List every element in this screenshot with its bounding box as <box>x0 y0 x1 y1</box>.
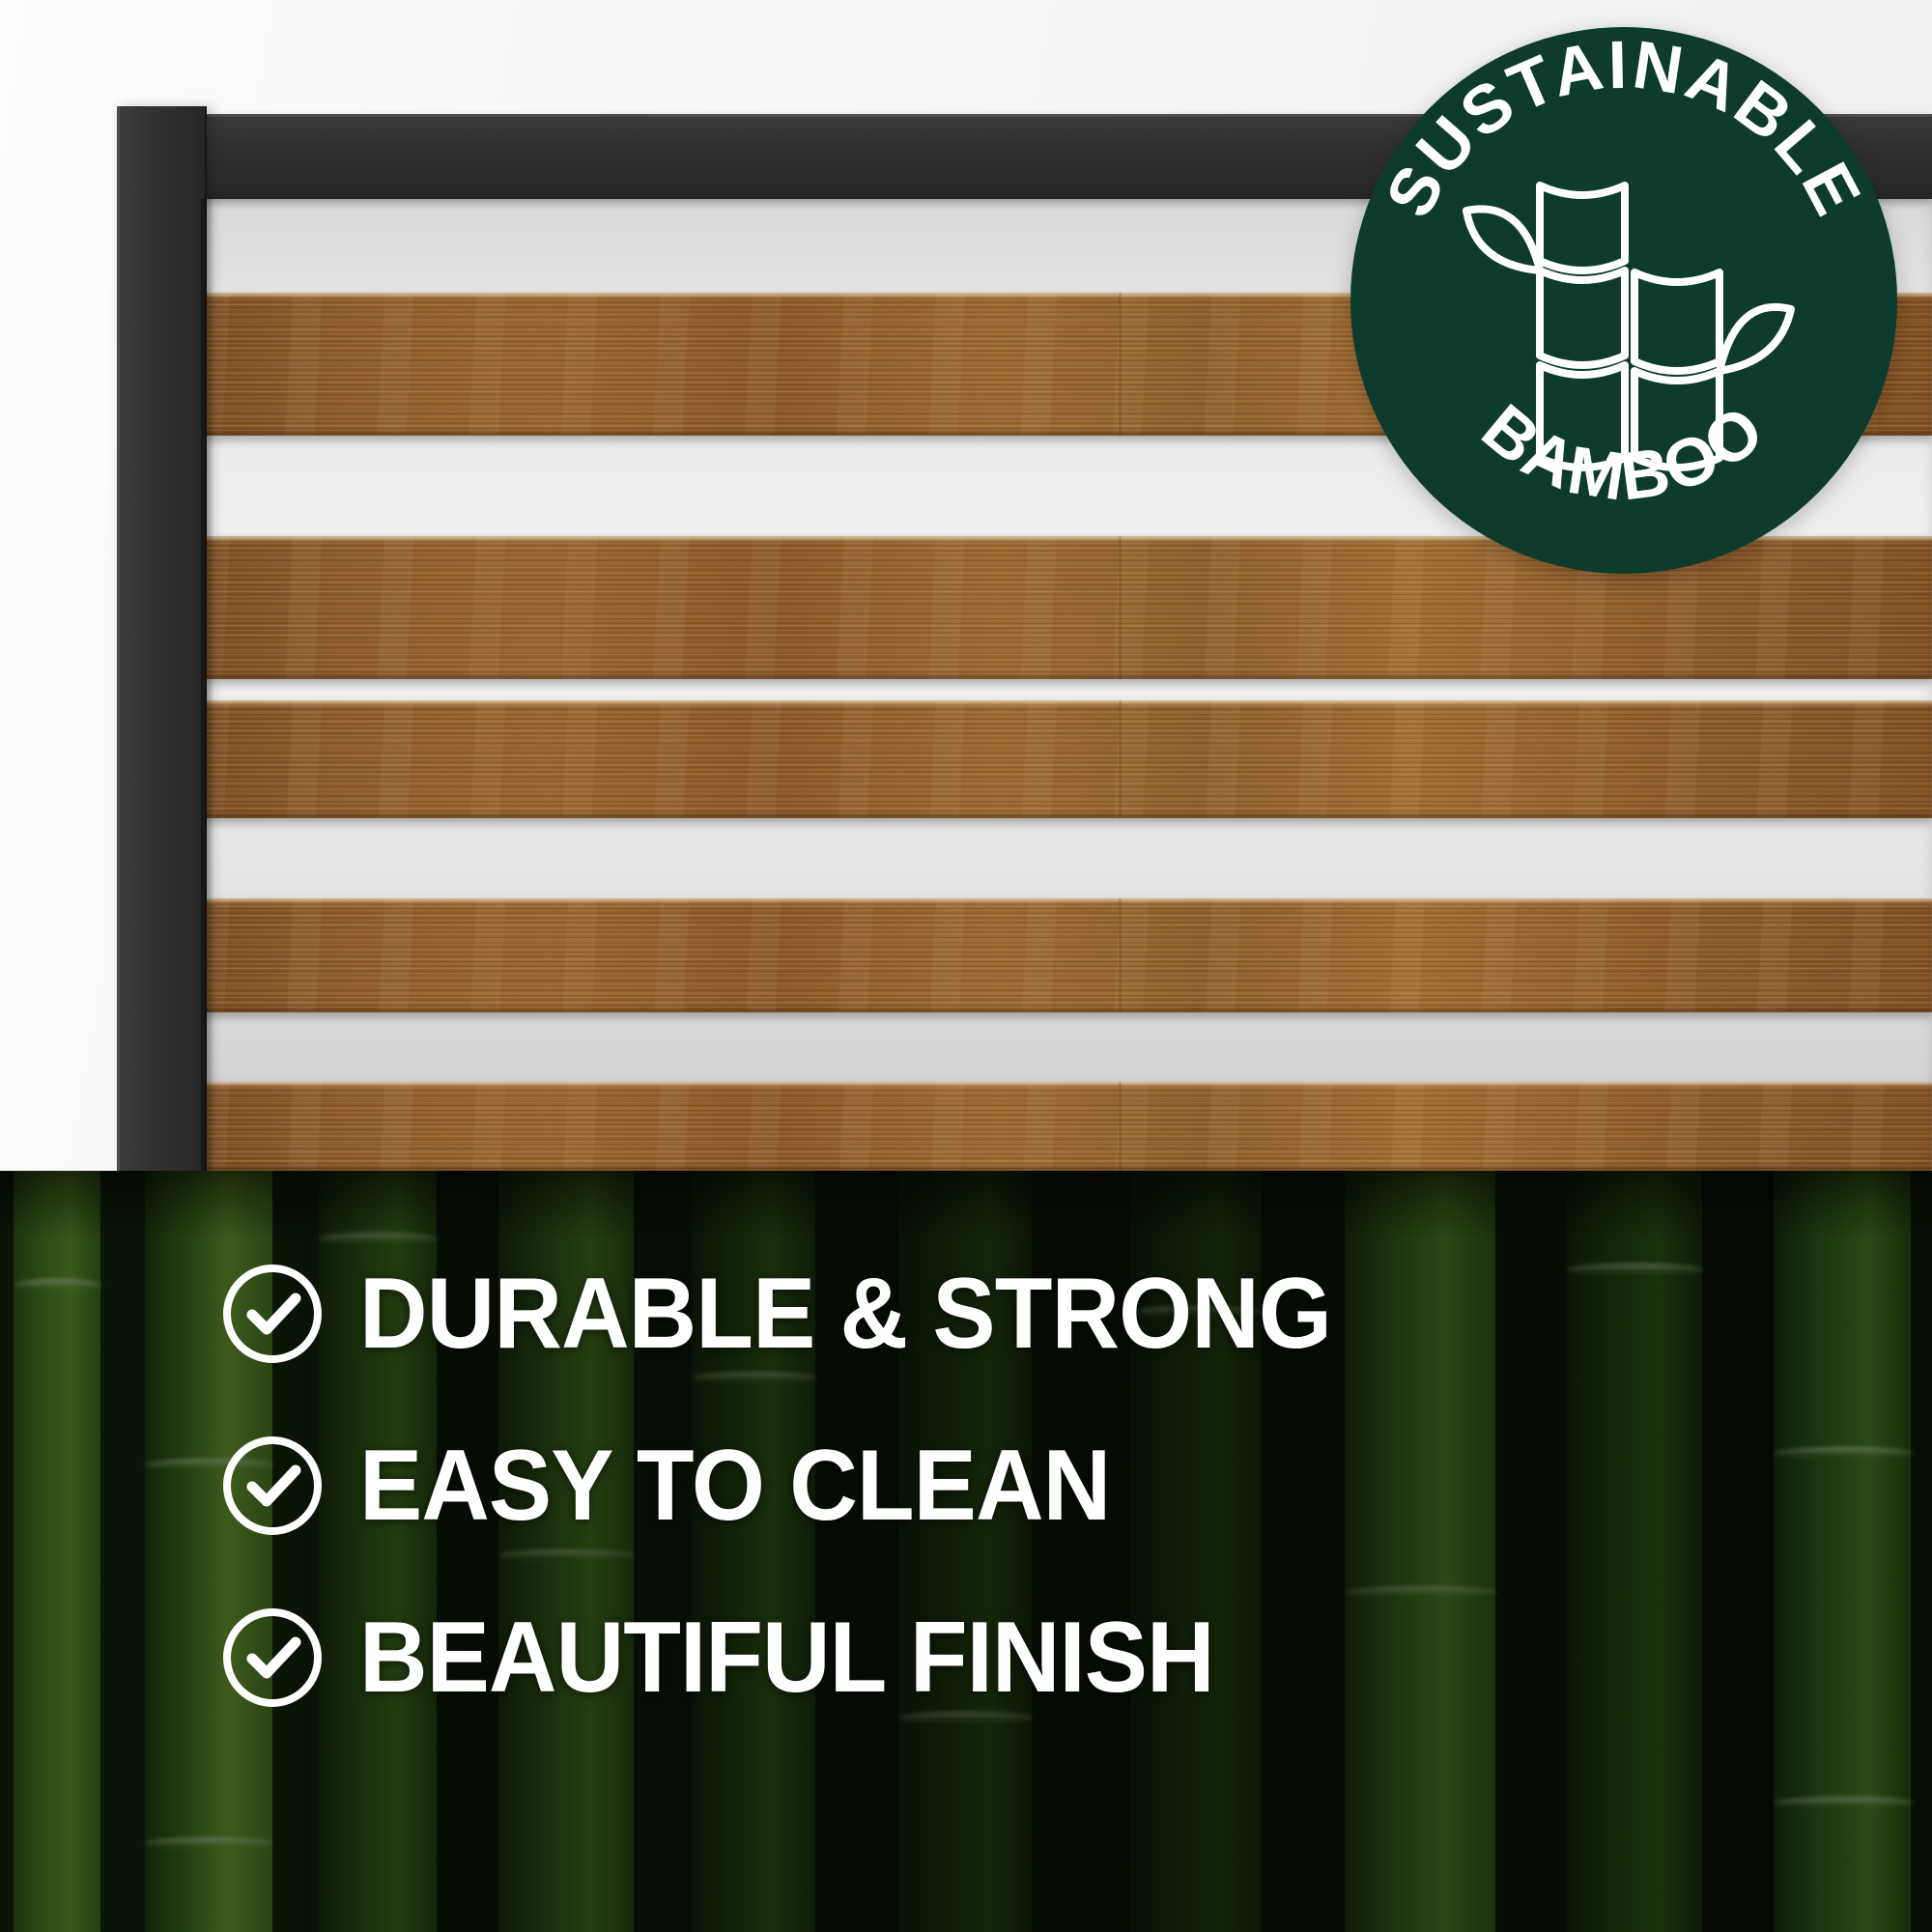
benefit-item: DURABLE & STRONG <box>220 1260 1393 1368</box>
check-circle-icon <box>220 1434 325 1538</box>
benefit-label: EASY TO CLEAN <box>359 1435 1110 1536</box>
check-circle-icon <box>220 1605 325 1710</box>
frame-left-stile <box>117 106 207 1171</box>
benefit-label: DURABLE & STRONG <box>359 1264 1331 1364</box>
section-seam-shadow <box>0 1171 1932 1238</box>
benefits-section: DURABLE & STRONG EASY TO CLEAN <box>0 1171 1932 1932</box>
benefit-item: BEAUTIFUL FINISH <box>220 1604 1393 1712</box>
bamboo-slat <box>201 898 1932 1012</box>
product-photo: SUSTAINABLE BAMBOO <box>0 0 1932 1171</box>
benefit-item: EASY TO CLEAN <box>220 1432 1393 1540</box>
stile-shadow <box>201 199 214 1171</box>
bamboo-slat <box>201 700 1932 818</box>
check-circle-icon <box>220 1262 325 1366</box>
benefits-list: DURABLE & STRONG EASY TO CLEAN <box>220 1260 1393 1712</box>
product-feature-panel: SUSTAINABLE BAMBOO <box>0 0 1932 1932</box>
benefit-label: BEAUTIFUL FINISH <box>359 1607 1214 1708</box>
sustainable-bamboo-badge: SUSTAINABLE BAMBOO <box>1350 27 1897 574</box>
bamboo-slat <box>201 1082 1932 1171</box>
